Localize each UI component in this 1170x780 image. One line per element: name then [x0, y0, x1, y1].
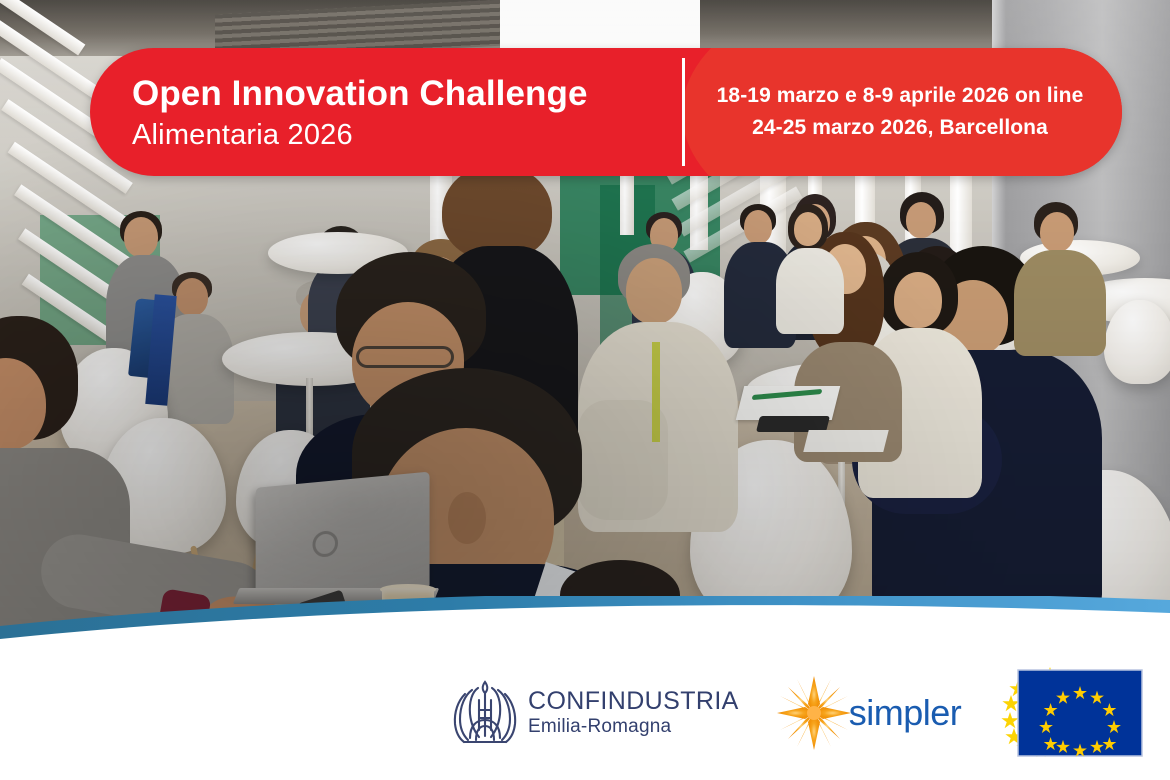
header-banner: Open Innovation Challenge Alimentaria 20… — [90, 48, 1122, 176]
simpler-wordmark: simpler — [849, 692, 962, 734]
footer-logo-bar: CONFINDUSTRIA Emilia-Romagna — [0, 646, 1170, 780]
confindustria-name: CONFINDUSTRIA — [528, 688, 739, 715]
eu-flag-icon — [1017, 669, 1143, 757]
laptop-screen — [256, 472, 430, 596]
date-line-barcelona: 24-25 marzo 2026, Barcellona — [700, 112, 1100, 144]
page-title: Open Innovation Challenge — [132, 72, 672, 116]
banner-dates-group: 18-19 marzo e 8-9 aprile 2026 on line 24… — [700, 80, 1100, 144]
logo-european-union-flag[interactable] — [1017, 669, 1143, 757]
ear — [448, 492, 486, 544]
page-subtitle: Alimentaria 2026 — [132, 116, 672, 154]
hanging-sign — [500, 0, 700, 52]
date-line-online: 18-19 marzo e 8-9 aprile 2026 on line — [700, 80, 1100, 112]
logo-row: CONFINDUSTRIA Emilia-Romagna — [440, 646, 1140, 780]
banner-vertical-divider — [682, 58, 685, 166]
simpler-starburst-icon — [775, 674, 853, 752]
confindustria-eagle-icon — [452, 676, 518, 750]
logo-simpler[interactable]: simpler — [775, 674, 962, 752]
lanyard — [652, 342, 660, 442]
eyeglasses — [356, 346, 454, 368]
confindustria-region: Emilia-Romagna — [528, 717, 739, 738]
paper-sheet — [803, 430, 888, 452]
poster-root: Open Innovation Challenge Alimentaria 20… — [0, 0, 1170, 780]
logo-confindustria[interactable]: CONFINDUSTRIA Emilia-Romagna — [452, 676, 739, 750]
banner-title-group: Open Innovation Challenge Alimentaria 20… — [132, 72, 672, 154]
laptop-logo — [313, 530, 339, 558]
confindustria-wordmark: CONFINDUSTRIA Emilia-Romagna — [528, 688, 739, 738]
